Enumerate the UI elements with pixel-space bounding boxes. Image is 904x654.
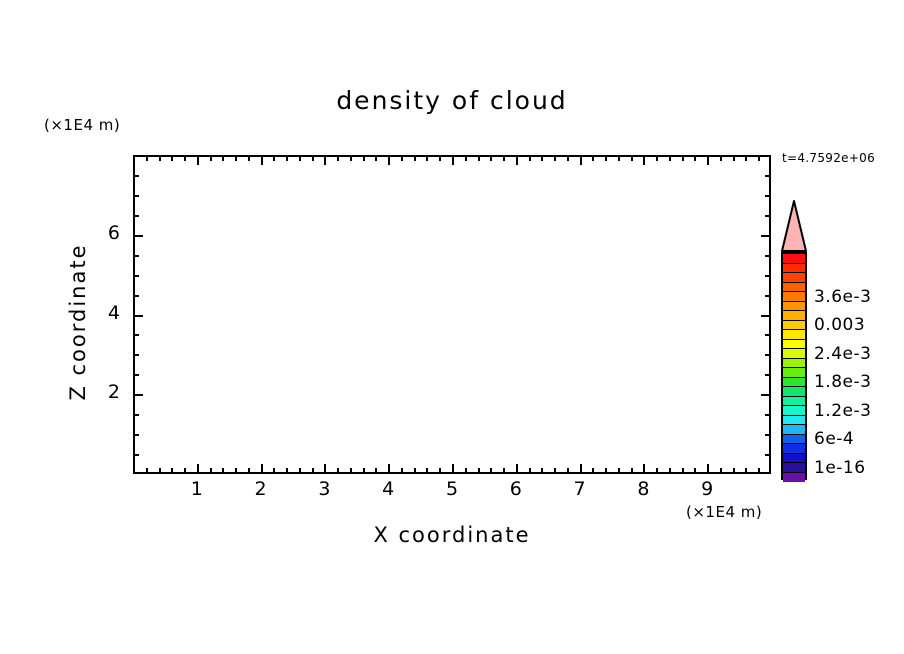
colorbar-band	[783, 292, 805, 302]
x-top-tick	[758, 156, 760, 161]
x-top-tick	[567, 156, 569, 161]
x-minor-tick	[426, 468, 428, 473]
x-top-tick	[171, 156, 173, 161]
x-minor-tick	[669, 468, 671, 473]
x-top-tick	[720, 156, 722, 161]
colorbar-band	[783, 264, 805, 274]
y-major-tick	[134, 235, 143, 237]
x-top-tick	[682, 156, 684, 161]
colorbar-tick-label: 1.8e-3	[814, 372, 871, 392]
x-top-tick	[503, 156, 505, 161]
x-minor-tick	[745, 468, 747, 473]
x-top-tick	[554, 156, 556, 161]
x-minor-tick	[401, 468, 403, 473]
x-minor-tick	[478, 468, 480, 473]
x-minor-tick	[299, 468, 301, 473]
x-top-tick	[363, 156, 365, 161]
colorbar-bands	[781, 252, 807, 480]
x-top-tick	[580, 156, 582, 165]
colorbar-band	[783, 387, 805, 397]
colorbar-band	[783, 302, 805, 312]
x-minor-tick	[592, 468, 594, 473]
x-tick-label: 5	[432, 478, 472, 500]
y-right-tick	[765, 175, 770, 177]
x-top-tick	[324, 156, 326, 165]
x-top-tick	[439, 156, 441, 161]
y-minor-tick	[134, 374, 139, 376]
y-minor-tick	[134, 414, 139, 416]
x-top-tick	[273, 156, 275, 161]
x-minor-tick	[733, 468, 735, 473]
x-top-tick	[541, 156, 543, 161]
colorbar-band	[783, 454, 805, 464]
colorbar-band	[783, 444, 805, 454]
y-tick-label: 2	[86, 381, 120, 403]
y-minor-tick	[134, 434, 139, 436]
y-minor-tick	[134, 195, 139, 197]
y-right-tick	[765, 454, 770, 456]
y-axis-title: Z coordinate	[66, 222, 90, 422]
x-minor-tick	[567, 468, 569, 473]
x-major-tick	[643, 464, 645, 473]
colorbar-band	[783, 368, 805, 378]
y-minor-tick	[134, 175, 139, 177]
colorbar-band	[783, 311, 805, 321]
colorbar-over-arrow-icon	[781, 200, 807, 252]
x-top-tick	[337, 156, 339, 161]
x-axis-unit-label: (×1E4 m)	[686, 503, 762, 521]
colorbar-band	[783, 473, 805, 483]
x-top-tick	[605, 156, 607, 161]
x-tick-label: 2	[241, 478, 281, 500]
x-minor-tick	[618, 468, 620, 473]
x-minor-tick	[529, 468, 531, 473]
y-minor-tick	[134, 334, 139, 336]
y-major-tick	[134, 394, 143, 396]
y-right-tick	[765, 295, 770, 297]
y-axis-unit-label: (×1E4 m)	[44, 116, 120, 134]
colorbar-band	[783, 340, 805, 350]
y-minor-tick	[134, 295, 139, 297]
y-right-tick	[765, 414, 770, 416]
y-right-tick	[761, 235, 770, 237]
x-top-tick	[465, 156, 467, 161]
x-minor-tick	[503, 468, 505, 473]
colorbar-tick-label: 6e-4	[814, 429, 854, 449]
x-top-tick	[592, 156, 594, 161]
x-minor-tick	[146, 468, 148, 473]
x-tick-label: 4	[368, 478, 408, 500]
x-top-tick	[656, 156, 658, 161]
colorbar	[781, 200, 807, 480]
x-top-tick	[197, 156, 199, 165]
x-top-tick	[733, 156, 735, 161]
colorbar-tick-label: 0.003	[814, 315, 865, 335]
x-minor-tick	[363, 468, 365, 473]
plot-area	[133, 155, 771, 474]
x-minor-tick	[350, 468, 352, 473]
x-minor-tick	[235, 468, 237, 473]
x-top-tick	[745, 156, 747, 161]
y-minor-tick	[134, 354, 139, 356]
x-minor-tick	[273, 468, 275, 473]
colorbar-band	[783, 435, 805, 445]
x-minor-tick	[605, 468, 607, 473]
colorbar-tick-label: 1e-16	[814, 458, 866, 478]
x-major-tick	[324, 464, 326, 473]
figure-root: density of cloud (×1E4 m) t=4.7592e+06 1…	[0, 0, 904, 654]
x-major-tick	[516, 464, 518, 473]
x-minor-tick	[312, 468, 314, 473]
x-top-tick	[184, 156, 186, 161]
colorbar-band	[783, 406, 805, 416]
x-minor-tick	[439, 468, 441, 473]
colorbar-band	[783, 349, 805, 359]
x-top-tick	[159, 156, 161, 161]
x-top-tick	[669, 156, 671, 161]
y-right-tick	[761, 315, 770, 317]
x-minor-tick	[656, 468, 658, 473]
x-tick-label: 8	[623, 478, 663, 500]
x-top-tick	[299, 156, 301, 161]
colorbar-band	[783, 378, 805, 388]
x-top-tick	[401, 156, 403, 161]
x-minor-tick	[375, 468, 377, 473]
y-tick-label: 6	[86, 222, 120, 244]
y-minor-tick	[134, 255, 139, 257]
x-top-tick	[248, 156, 250, 161]
x-minor-tick	[222, 468, 224, 473]
x-tick-label: 3	[304, 478, 344, 500]
y-right-tick	[761, 394, 770, 396]
y-right-tick	[765, 195, 770, 197]
colorbar-band	[783, 254, 805, 264]
x-major-tick	[197, 464, 199, 473]
colorbar-band	[783, 273, 805, 283]
x-tick-label: 7	[560, 478, 600, 500]
x-top-tick	[631, 156, 633, 161]
y-right-tick	[765, 434, 770, 436]
x-top-tick	[516, 156, 518, 165]
x-minor-tick	[720, 468, 722, 473]
x-minor-tick	[758, 468, 760, 473]
y-minor-tick	[134, 215, 139, 217]
x-top-tick	[210, 156, 212, 161]
x-axis-title: X coordinate	[0, 523, 904, 547]
x-minor-tick	[210, 468, 212, 473]
x-top-tick	[375, 156, 377, 161]
y-right-tick	[765, 275, 770, 277]
x-top-tick	[490, 156, 492, 161]
x-top-tick	[350, 156, 352, 161]
y-right-tick	[765, 354, 770, 356]
x-tick-label: 1	[177, 478, 217, 500]
x-minor-tick	[694, 468, 696, 473]
x-top-tick	[694, 156, 696, 161]
colorbar-band	[783, 283, 805, 293]
colorbar-tick-label: 2.4e-3	[814, 344, 871, 364]
y-right-tick	[765, 374, 770, 376]
chart-title: density of cloud	[0, 86, 904, 115]
x-minor-tick	[490, 468, 492, 473]
x-top-tick	[222, 156, 224, 161]
colorbar-band	[783, 425, 805, 435]
x-tick-label: 6	[496, 478, 536, 500]
x-top-tick	[146, 156, 148, 161]
contour-field	[135, 157, 769, 472]
colorbar-tick-label: 3.6e-3	[814, 287, 871, 307]
x-major-tick	[580, 464, 582, 473]
time-annotation: t=4.7592e+06	[782, 151, 875, 165]
x-minor-tick	[248, 468, 250, 473]
x-top-tick	[426, 156, 428, 161]
x-minor-tick	[184, 468, 186, 473]
y-minor-tick	[134, 275, 139, 277]
x-top-tick	[529, 156, 531, 161]
colorbar-band	[783, 359, 805, 369]
x-top-tick	[452, 156, 454, 165]
x-tick-label: 9	[687, 478, 727, 500]
x-minor-tick	[465, 468, 467, 473]
colorbar-band	[783, 330, 805, 340]
x-minor-tick	[337, 468, 339, 473]
x-top-tick	[618, 156, 620, 161]
x-top-tick	[707, 156, 709, 165]
x-top-tick	[388, 156, 390, 165]
x-minor-tick	[541, 468, 543, 473]
colorbar-band	[783, 397, 805, 407]
y-tick-label: 4	[86, 302, 120, 324]
y-right-tick	[765, 334, 770, 336]
colorbar-tick-label: 1.2e-3	[814, 401, 871, 421]
x-top-tick	[478, 156, 480, 161]
x-minor-tick	[286, 468, 288, 473]
x-top-tick	[312, 156, 314, 161]
x-minor-tick	[631, 468, 633, 473]
x-major-tick	[388, 464, 390, 473]
colorbar-band	[783, 416, 805, 426]
x-top-tick	[286, 156, 288, 161]
x-minor-tick	[682, 468, 684, 473]
x-minor-tick	[159, 468, 161, 473]
x-minor-tick	[414, 468, 416, 473]
y-major-tick	[134, 315, 143, 317]
x-major-tick	[261, 464, 263, 473]
colorbar-band	[783, 463, 805, 473]
x-major-tick	[452, 464, 454, 473]
x-major-tick	[707, 464, 709, 473]
x-top-tick	[643, 156, 645, 165]
x-top-tick	[414, 156, 416, 161]
x-top-tick	[261, 156, 263, 165]
x-minor-tick	[554, 468, 556, 473]
y-right-tick	[765, 215, 770, 217]
x-top-tick	[235, 156, 237, 161]
y-right-tick	[765, 255, 770, 257]
colorbar-band	[783, 321, 805, 331]
x-minor-tick	[171, 468, 173, 473]
y-minor-tick	[134, 454, 139, 456]
